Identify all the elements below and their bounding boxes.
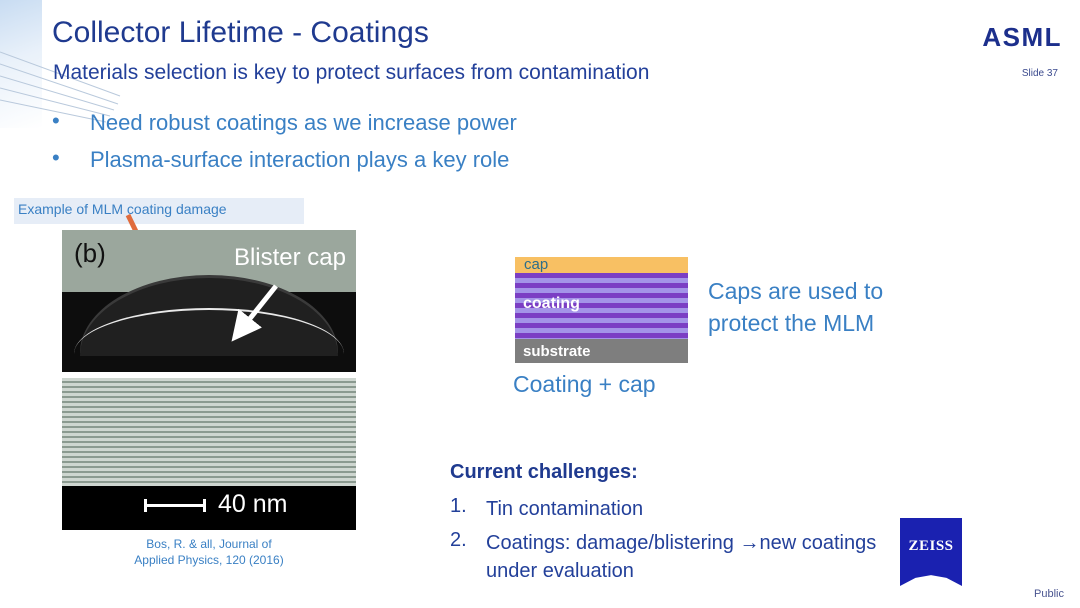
classification-label: Public (1034, 588, 1064, 600)
challenge-text-2: Coatings: damage/blistering →new coating… (486, 529, 886, 585)
bullet-item-1: • Need robust coatings as we increase po… (52, 110, 517, 136)
page-subtitle: Materials selection is key to protect su… (53, 61, 649, 85)
page-title: Collector Lifetime - Coatings (52, 16, 429, 50)
sem-micrograph: (b) Blister cap 40 nm (62, 230, 356, 530)
sem-scalebar-strip: 40 nm (62, 486, 356, 530)
mlm-stack-diagram: cap coating substrate (515, 257, 688, 363)
white-arrow-icon (230, 282, 290, 342)
annotation-label: Example of MLM coating damage (18, 201, 227, 217)
bullet-text-1: Need robust coatings as we increase powe… (90, 110, 517, 136)
citation-line-2: Applied Physics, 120 (2016) (62, 552, 356, 568)
sem-callout-label: Blister cap (234, 244, 346, 272)
bullet-marker-icon: • (52, 110, 70, 132)
sem-panel-label: (b) (74, 238, 106, 269)
challenge-number-2: 2. (450, 529, 486, 585)
scalebar-label: 40 nm (218, 490, 287, 519)
stack-caption: Coating + cap (513, 371, 656, 398)
zeiss-logo: ZEISS (900, 518, 962, 586)
slide-canvas: Collector Lifetime - Coatings Materials … (0, 0, 1080, 608)
bullet-marker-icon: • (52, 147, 70, 169)
slide-number: Slide 37 (1022, 68, 1058, 79)
stack-cap-label: cap (524, 256, 548, 273)
asml-logo: ASML (982, 22, 1062, 53)
bullet-item-2: • Plasma-surface interaction plays a key… (52, 147, 509, 173)
stack-substrate-label: substrate (523, 343, 591, 360)
challenges-title: Current challenges: (450, 461, 638, 484)
challenge-item-2: 2. Coatings: damage/blistering →new coat… (450, 529, 886, 585)
scalebar-icon (144, 504, 206, 507)
bullet-text-2: Plasma-surface interaction plays a key r… (90, 147, 509, 173)
stack-note: Caps are used to protect the MLM (708, 275, 958, 339)
citation-line-1: Bos, R. & all, Journal of (62, 536, 356, 552)
stack-coating-label: coating (523, 295, 580, 313)
challenge-text-1: Tin contamination (486, 495, 886, 523)
challenge-number-1: 1. (450, 495, 486, 523)
zeiss-logo-text: ZEISS (900, 538, 962, 555)
sem-multilayer-region (62, 378, 356, 493)
challenge-item-1: 1. Tin contamination (450, 495, 886, 523)
citation: Bos, R. & all, Journal of Applied Physic… (62, 536, 356, 568)
